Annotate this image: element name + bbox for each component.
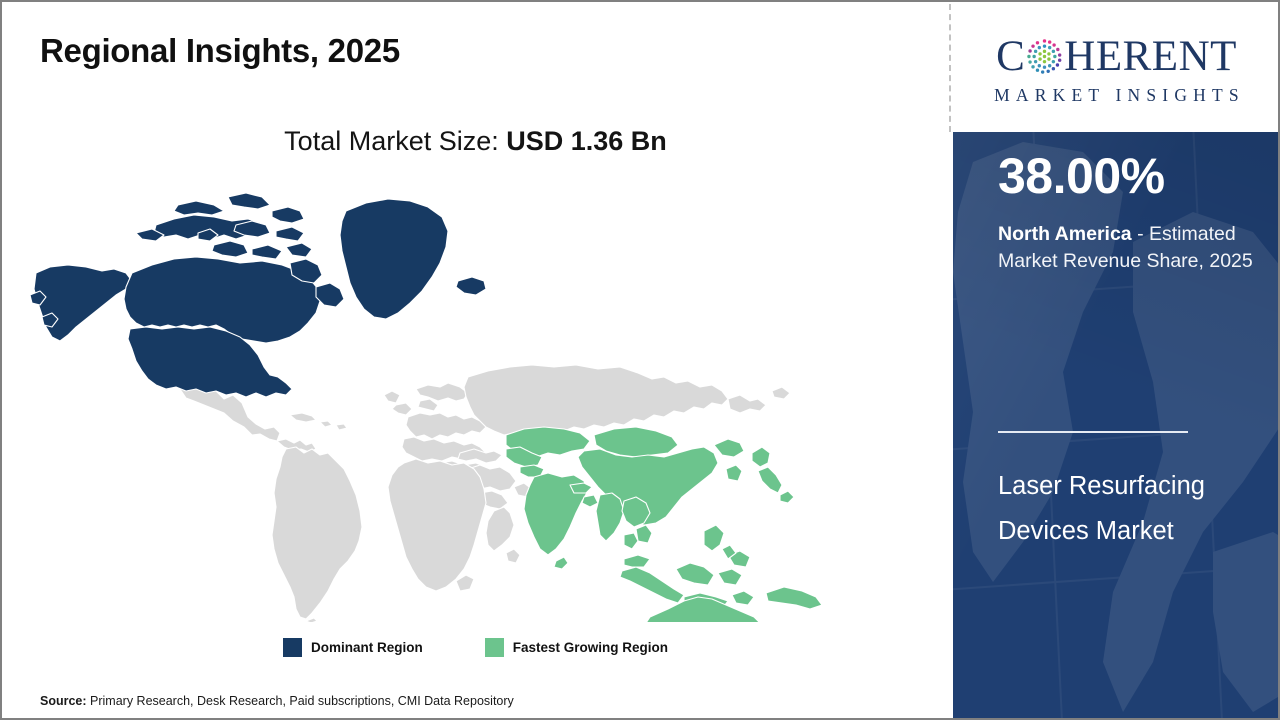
source-text: Primary Research, Desk Research, Paid su…	[87, 694, 514, 708]
source-note: Source: Primary Research, Desk Research,…	[40, 694, 514, 708]
market-title: Laser Resurfacing Devices Market	[998, 464, 1248, 555]
world-map	[28, 177, 928, 622]
legend-item-fastest-growing: Fastest Growing Region	[485, 638, 668, 657]
legend-item-dominant: Dominant Region	[283, 638, 423, 657]
stat-panel: 38.00% North America - Estimated Market …	[953, 132, 1280, 720]
map-region-asia-pacific	[506, 427, 836, 622]
dotted-globe-icon	[1026, 38, 1063, 75]
infographic-slide: Regional Insights, 2025 Total Market Siz…	[0, 0, 1280, 720]
brand-logo: C	[953, 4, 1280, 132]
stat-region-name: North America	[998, 223, 1132, 245]
logo-wordmark: C	[996, 31, 1237, 83]
source-label: Source:	[40, 694, 87, 708]
total-market-size: Total Market Size: USD 1.36 Bn	[2, 126, 949, 157]
map-region-north-america	[30, 193, 486, 397]
stat-percent-value: 38.00%	[998, 151, 1165, 201]
logo-word-herent: HERENT	[1064, 35, 1237, 78]
market-size-value: USD 1.36 Bn	[506, 126, 667, 156]
panel-divider	[949, 4, 951, 132]
legend-swatch-fastest-growing	[485, 638, 504, 657]
legend-label-dominant: Dominant Region	[311, 640, 423, 655]
stat-content: 38.00% North America - Estimated Market …	[998, 132, 1266, 720]
map-panel: Regional Insights, 2025 Total Market Siz…	[2, 2, 949, 718]
stat-description: North America - Estimated Market Revenue…	[998, 221, 1263, 274]
legend-label-fastest-growing: Fastest Growing Region	[513, 640, 668, 655]
logo-tagline: MARKET INSIGHTS	[988, 85, 1245, 106]
legend-swatch-dominant	[283, 638, 302, 657]
logo-word-c: C	[996, 35, 1025, 78]
stat-divider-rule	[998, 431, 1188, 433]
market-size-label: Total Market Size:	[284, 126, 506, 156]
map-legend: Dominant Region Fastest Growing Region	[2, 638, 949, 657]
world-map-svg	[28, 177, 928, 622]
info-panel: C	[953, 4, 1280, 720]
page-title: Regional Insights, 2025	[40, 32, 400, 70]
